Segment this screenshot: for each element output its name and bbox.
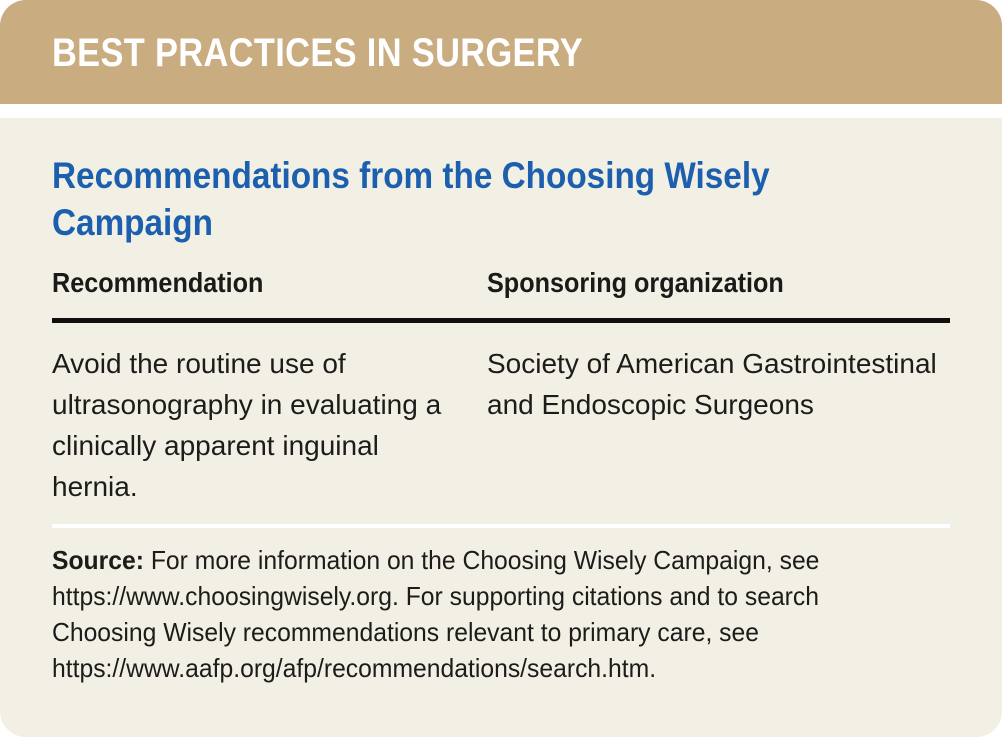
table-header-rule (52, 318, 950, 323)
card-body: Recommendations from the Choosing Wisely… (0, 118, 1002, 737)
source-text: For more information on the Choosing Wis… (52, 545, 819, 683)
page-title: Recommendations from the Choosing Wisely… (52, 152, 799, 246)
column-header-sponsoring-organization: Sponsoring organization (487, 266, 784, 300)
recommendations-table: Recommendation Sponsoring organization A… (52, 266, 950, 312)
table-header-row: Recommendation Sponsoring organization (52, 266, 950, 312)
best-practices-card: BEST PRACTICES IN SURGERY Recommendation… (0, 0, 1002, 737)
column-header-recommendation: Recommendation (52, 266, 263, 300)
source-label: Source: (52, 545, 144, 575)
table-footer-rule (52, 524, 950, 528)
banner: BEST PRACTICES IN SURGERY (0, 0, 1002, 104)
banner-separator-band (0, 104, 1002, 118)
source-note: Source: For more information on the Choo… (52, 542, 912, 686)
banner-title: BEST PRACTICES IN SURGERY (52, 31, 583, 75)
cell-recommendation: Avoid the routine use of ultrasonography… (52, 343, 462, 507)
cell-sponsoring-organization: Society of American Gastrointestinal and… (487, 343, 950, 425)
